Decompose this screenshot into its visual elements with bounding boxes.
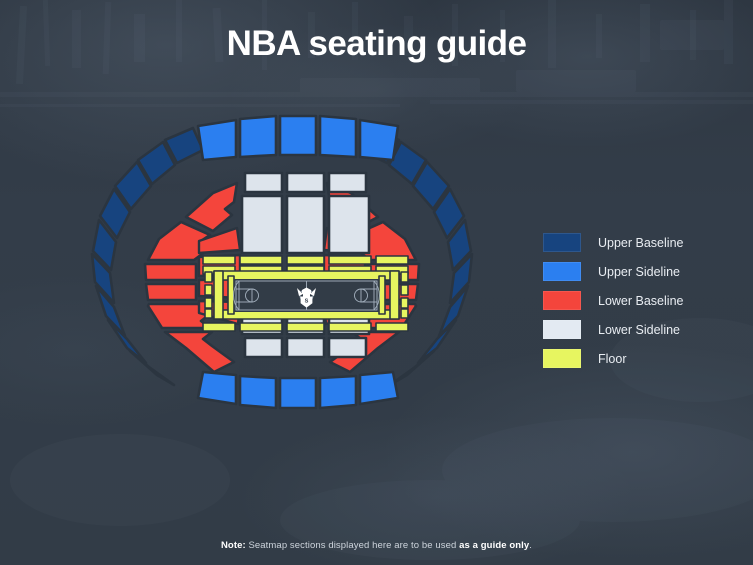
page-title: NBA seating guide — [0, 24, 753, 64]
legend-item-upper-baseline[interactable]: Upper Baseline — [543, 228, 733, 257]
seatmap-svg: S — [62, 110, 502, 420]
legend-label-upper-sideline: Upper Sideline — [598, 265, 680, 279]
footer-note: Note: Seatmap sections displayed here ar… — [0, 540, 753, 551]
legend-swatch-upper-sideline — [543, 262, 581, 281]
legend-swatch-lower-baseline — [543, 291, 581, 310]
legend: Upper Baseline Upper Sideline Lower Base… — [543, 228, 733, 373]
legend-item-upper-sideline[interactable]: Upper Sideline — [543, 257, 733, 286]
legend-label-floor: Floor — [598, 352, 626, 366]
zone-floor-lower-strips[interactable] — [203, 323, 408, 331]
arena-seatmap[interactable]: S — [62, 110, 502, 420]
footer-note-lead: Note: — [221, 540, 246, 551]
seating-guide-page: NBA seating guide — [0, 0, 753, 565]
footer-note-end: . — [529, 540, 532, 551]
legend-label-lower-baseline: Lower Baseline — [598, 294, 683, 308]
legend-swatch-upper-baseline — [543, 233, 581, 252]
legend-item-lower-baseline[interactable]: Lower Baseline — [543, 286, 733, 315]
legend-label-lower-sideline: Lower Sideline — [598, 323, 680, 337]
footer-note-tail: as a guide only — [459, 540, 529, 551]
svg-text:S: S — [305, 299, 309, 305]
legend-swatch-floor — [543, 349, 581, 368]
basketball-court: S — [234, 279, 380, 312]
legend-label-upper-baseline: Upper Baseline — [598, 236, 683, 250]
legend-item-lower-sideline[interactable]: Lower Sideline — [543, 315, 733, 344]
footer-note-text: Seatmap sections displayed here are to b… — [246, 540, 459, 551]
legend-item-floor[interactable]: Floor — [543, 344, 733, 373]
legend-swatch-lower-sideline — [543, 320, 581, 339]
